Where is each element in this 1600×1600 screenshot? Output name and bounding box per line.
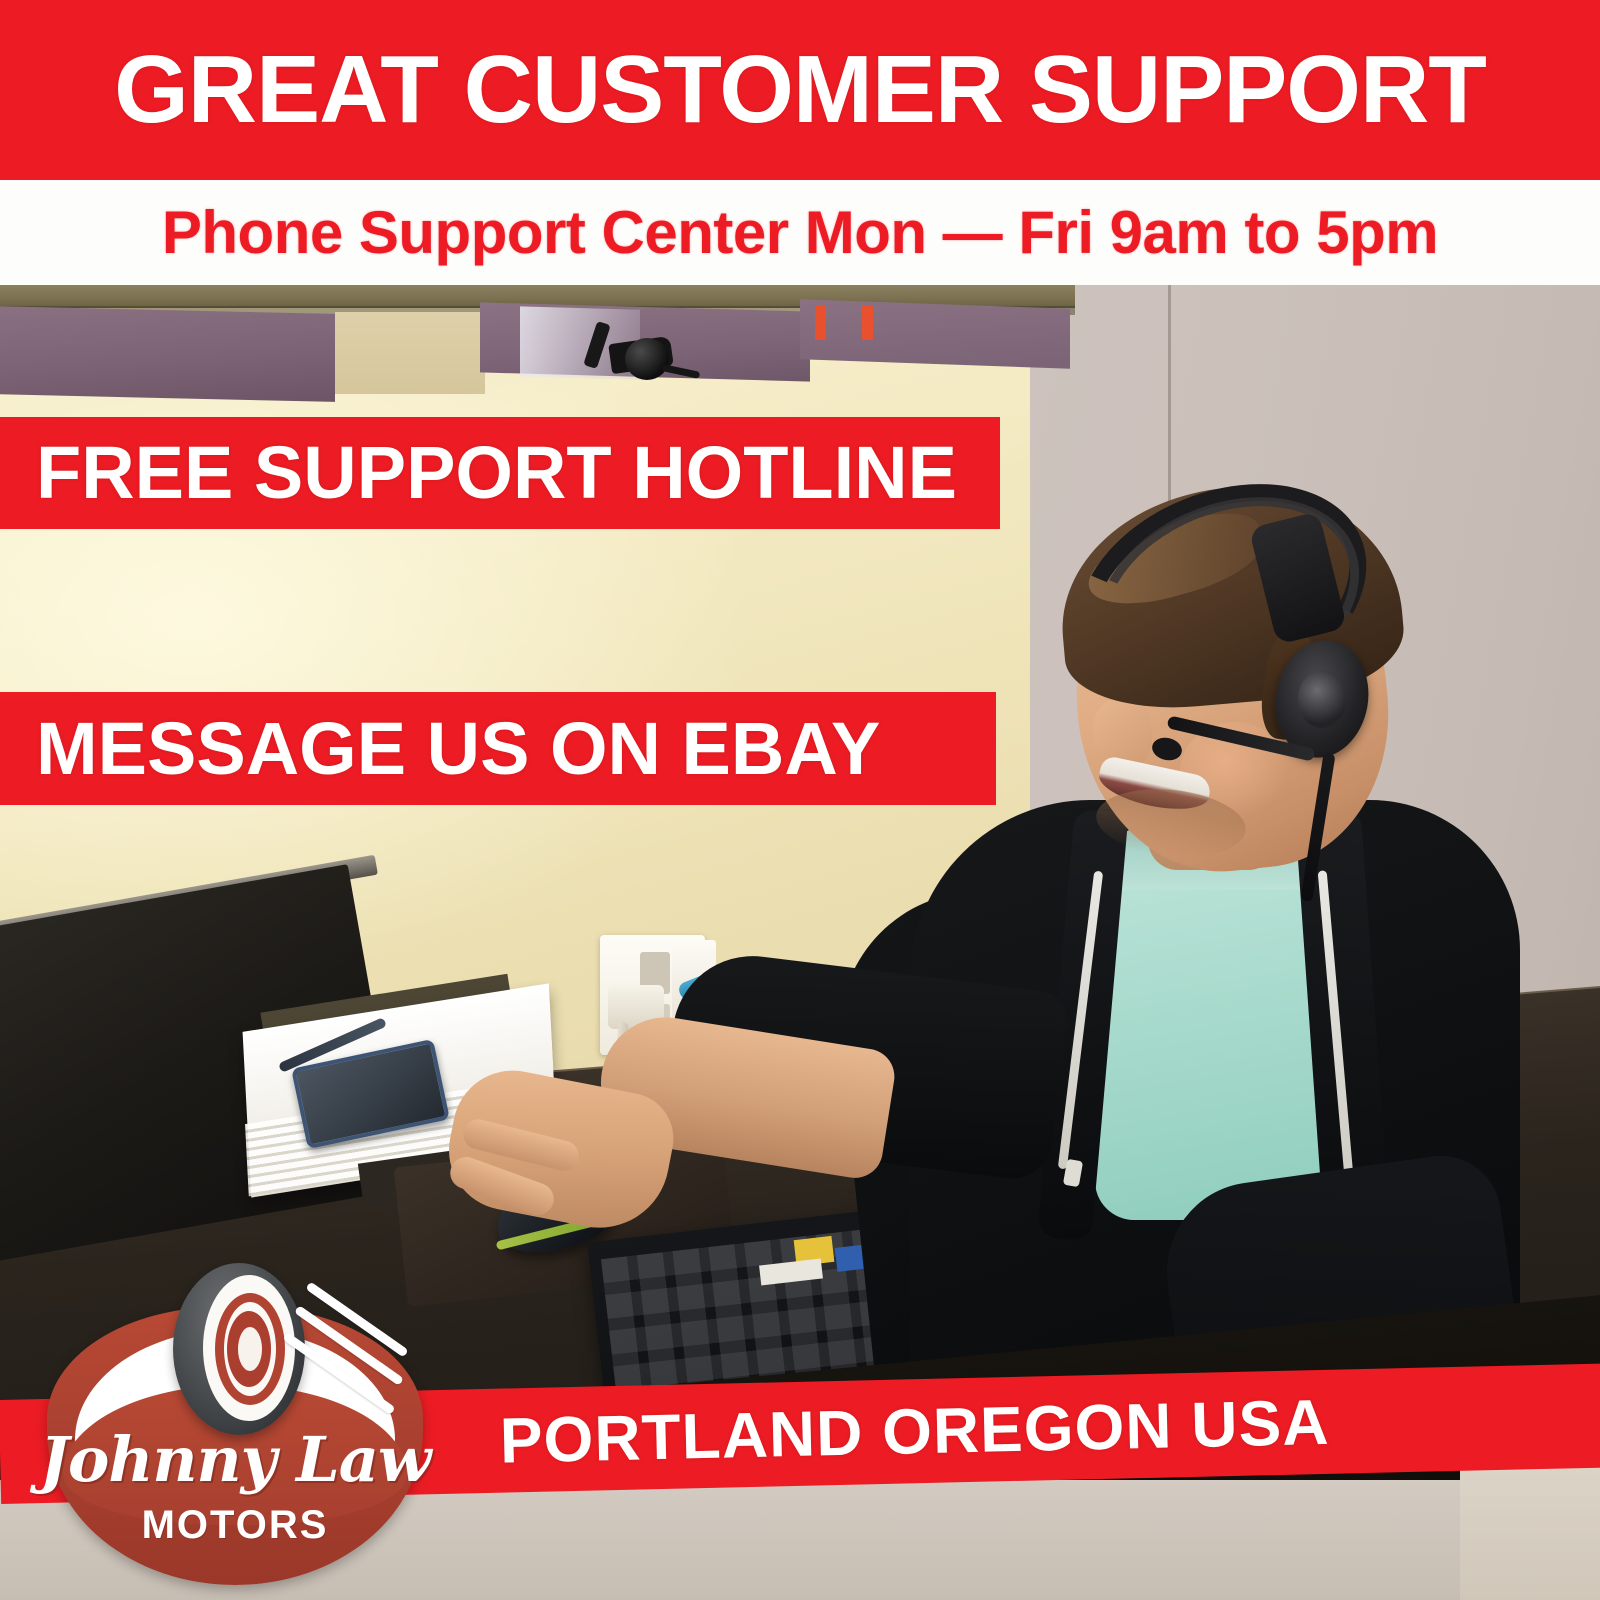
cubicle-panel-a <box>0 306 335 402</box>
page-title: GREAT CUSTOMER SUPPORT <box>114 42 1486 138</box>
headset-earcup-icon <box>625 338 669 380</box>
logo-sub-name: MOTORS <box>35 1503 435 1548</box>
wall-marker <box>815 306 826 340</box>
johnny-law-motors-logo: Johnny Law MOTORS <box>35 1245 435 1585</box>
header-banner: GREAT CUSTOMER SUPPORT <box>0 0 1600 180</box>
callout-label-ebay: MESSAGE US ON EBAY <box>0 712 880 786</box>
cubicle-gap <box>335 312 485 394</box>
headset-earcup-center <box>1298 670 1346 728</box>
cubicle-panel-c <box>800 299 1070 368</box>
callout-message-us-on-ebay: MESSAGE US ON EBAY <box>0 692 996 805</box>
callout-label-hotline: FREE SUPPORT HOTLINE <box>0 436 957 510</box>
tire-hub <box>238 1327 262 1371</box>
wall-marker <box>862 306 873 340</box>
callout-free-support-hotline: FREE SUPPORT HOTLINE <box>0 417 1000 529</box>
support-hours: Phone Support Center Mon — Fri 9am to 5p… <box>162 203 1438 263</box>
logo-script-name: Johnny Law <box>35 1423 435 1496</box>
subheader-banner: Phone Support Center Mon — Fri 9am to 5p… <box>0 180 1600 285</box>
promotional-poster: GREAT CUSTOMER SUPPORT Phone Support Cen… <box>0 0 1600 1600</box>
